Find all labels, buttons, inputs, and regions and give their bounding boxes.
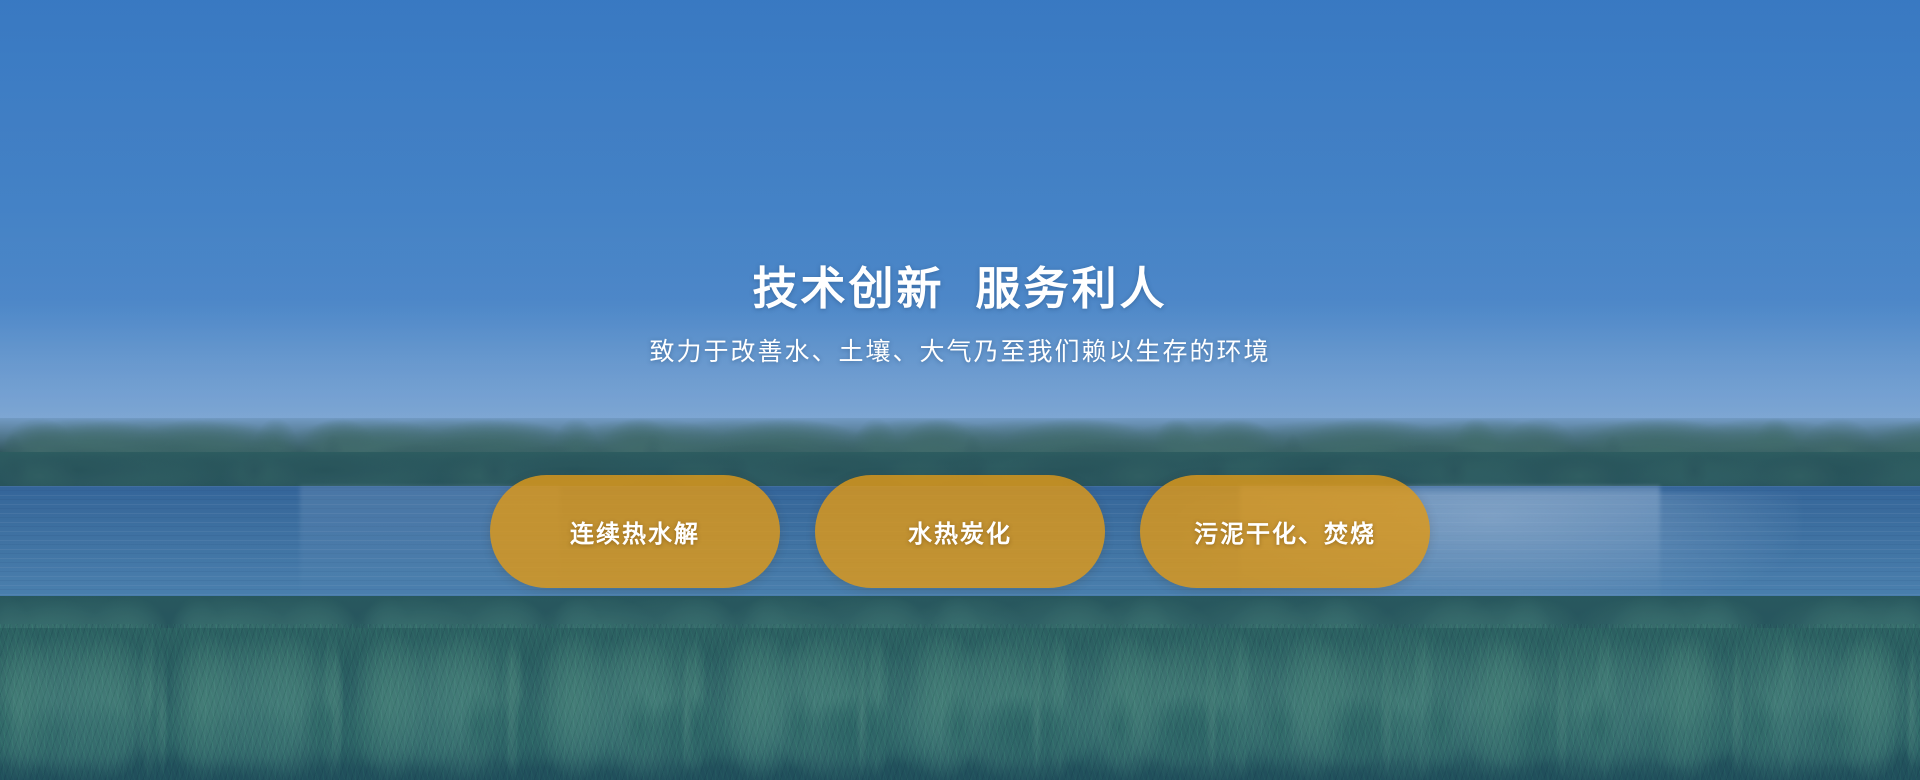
category-button-hydrothermal-carbonization[interactable]: 水热炭化 bbox=[815, 475, 1105, 588]
category-button-label: 连续热水解 bbox=[570, 514, 700, 549]
category-button-label: 污泥干化、焚烧 bbox=[1194, 514, 1376, 549]
category-button-continuous-thermal-hydrolysis[interactable]: 连续热水解 bbox=[490, 475, 780, 588]
hero-copy: 技术创新 服务利人 致力于改善水、土壤、大气乃至我们赖以生存的环境 bbox=[0, 262, 1920, 369]
category-button-row: 连续热水解 水热炭化 污泥干化、焚烧 bbox=[0, 475, 1920, 588]
category-button-sludge-drying-incineration[interactable]: 污泥干化、焚烧 bbox=[1140, 475, 1430, 588]
hero-banner: 技术创新 服务利人 致力于改善水、土壤、大气乃至我们赖以生存的环境 连续热水解 … bbox=[0, 0, 1920, 780]
mangrove-texture bbox=[0, 624, 1920, 780]
category-button-label: 水热炭化 bbox=[908, 514, 1012, 549]
page-title: 技术创新 服务利人 bbox=[0, 262, 1920, 316]
page-subtitle: 致力于改善水、土壤、大气乃至我们赖以生存的环境 bbox=[0, 336, 1920, 369]
